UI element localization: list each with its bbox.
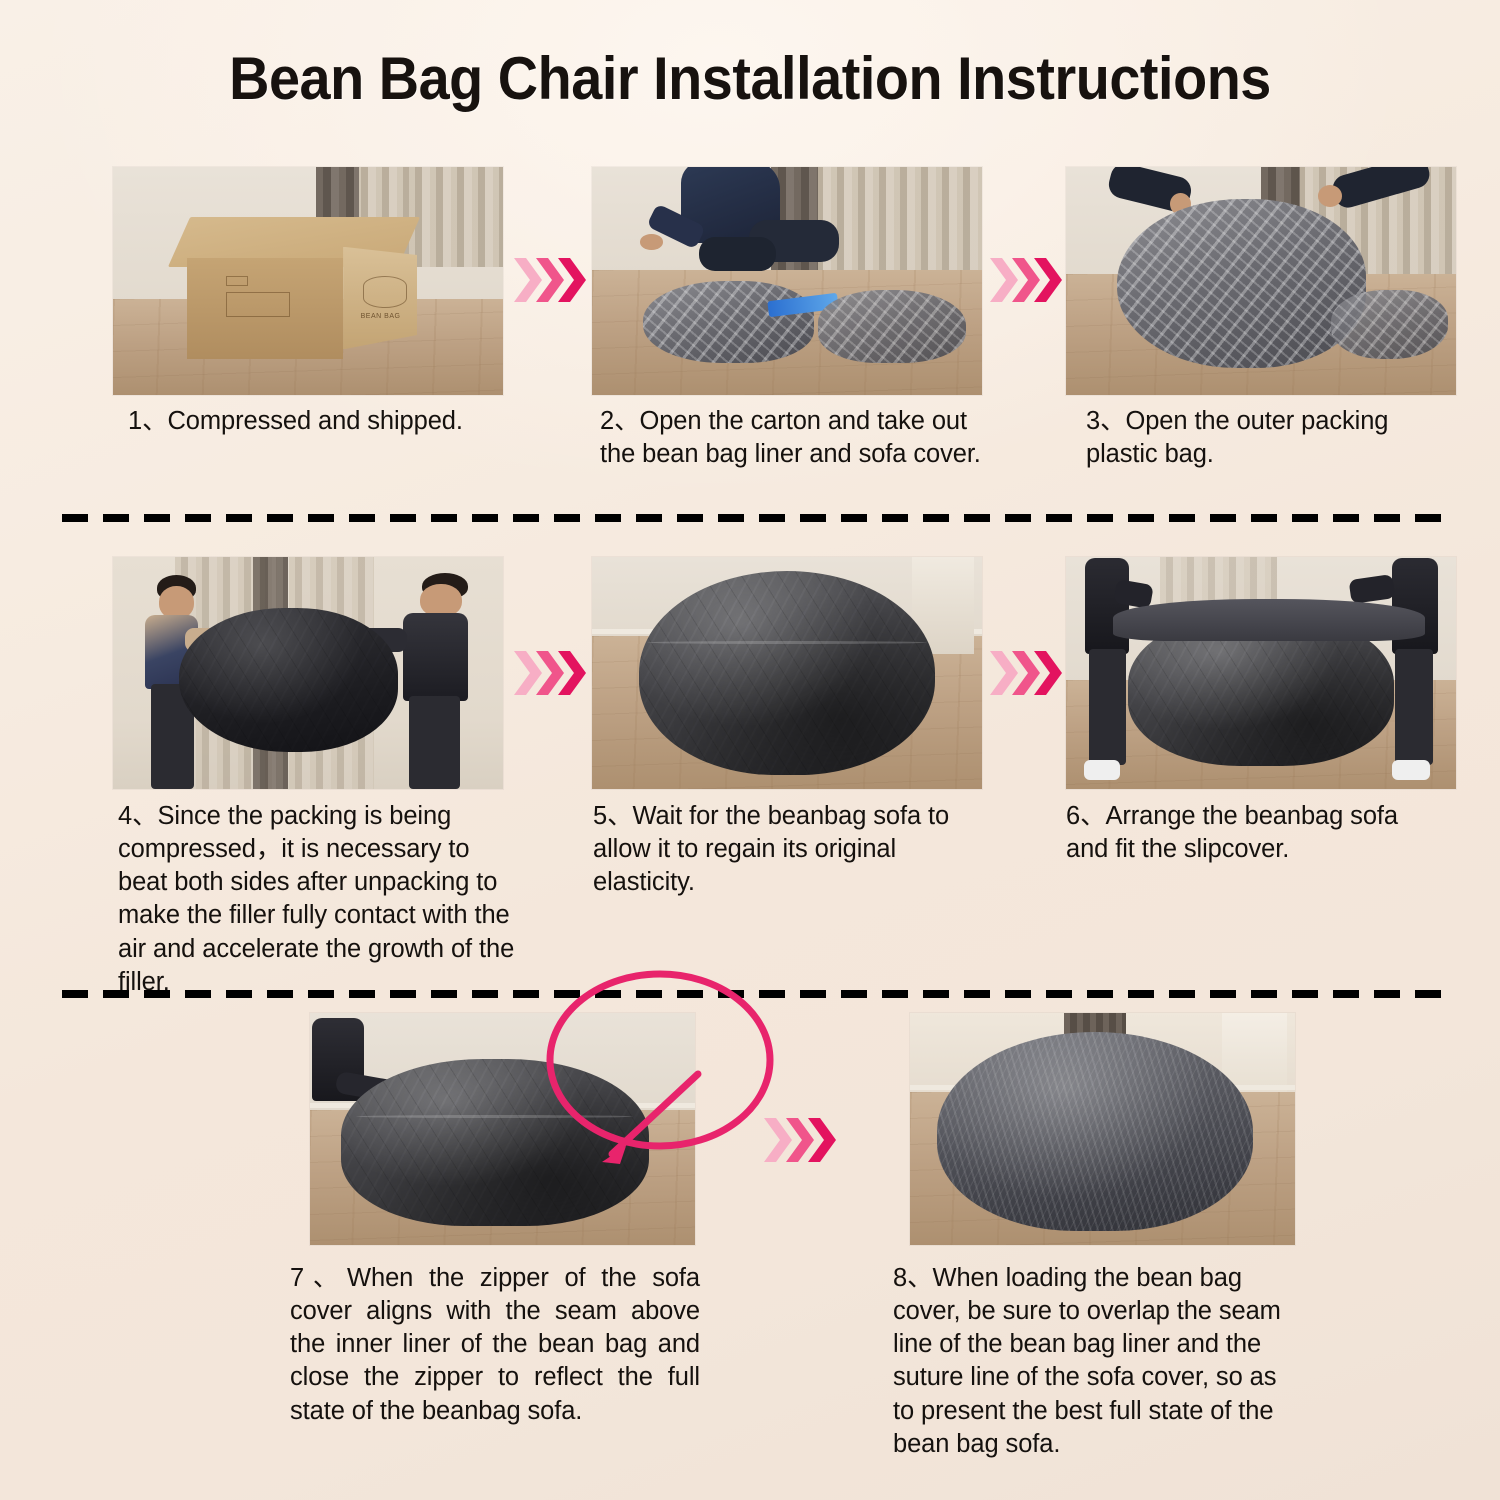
infographic-page: Bean Bag Chair Installation Instructions…	[0, 0, 1500, 1500]
step-8-caption: 8、When loading the bean bag cover, be su…	[893, 1262, 1293, 1461]
section-divider-2	[62, 990, 1442, 998]
chevron-arrow-icon	[512, 645, 590, 701]
step-4-caption: 4、Since the packing is being compressed，…	[118, 800, 518, 999]
arrow-step-2-to-3	[988, 252, 1066, 308]
arrow-step-7-to-8	[762, 1112, 840, 1168]
section-divider-1	[62, 514, 1442, 522]
step-1-caption: 1、Compressed and shipped.	[128, 405, 508, 438]
step-7-photo	[310, 1013, 695, 1245]
step-6-caption: 6、Arrange the beanbag sofa and fit the s…	[1066, 800, 1446, 866]
arrow-step-4-to-5	[512, 645, 590, 701]
chevron-arrow-icon	[762, 1112, 840, 1168]
step-4-photo	[113, 557, 503, 789]
step-8-photo	[910, 1013, 1295, 1245]
step-5-caption: 5、Wait for the beanbag sofa to allow it …	[593, 800, 983, 899]
step-2-caption: 2、Open the carton and take out the bean …	[600, 405, 990, 471]
step-5-photo	[592, 557, 982, 789]
step-3-caption: 3、Open the outer packing plastic bag.	[1086, 405, 1456, 471]
step-1-photo: BEAN BAG	[113, 167, 503, 395]
chevron-arrow-icon	[512, 252, 590, 308]
step-6-photo	[1066, 557, 1456, 789]
step-2-photo	[592, 167, 982, 395]
step-7-caption: 7、When the zipper of the sofa cover alig…	[290, 1262, 700, 1428]
arrow-step-5-to-6	[988, 645, 1066, 701]
chevron-arrow-icon	[988, 645, 1066, 701]
page-title: Bean Bag Chair Installation Instructions	[53, 44, 1448, 113]
step-3-photo	[1066, 167, 1456, 395]
chevron-arrow-icon	[988, 252, 1066, 308]
arrow-step-1-to-2	[512, 252, 590, 308]
